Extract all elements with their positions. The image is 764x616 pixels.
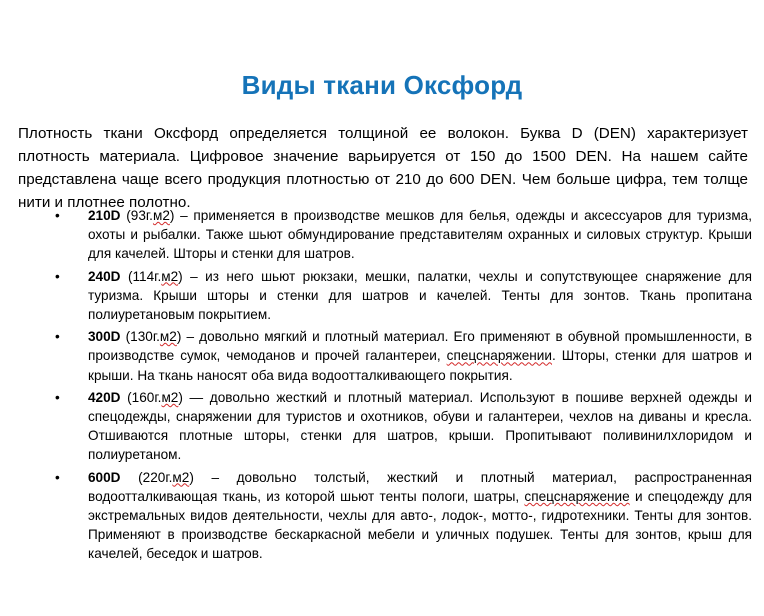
spellcheck-word: м2 [161,269,178,284]
item-description: – применяется в производстве мешков для … [88,208,752,261]
density-label: 300D [88,329,121,344]
item-description: – из него шьют рюкзаки, мешки, палатки, … [88,269,752,322]
weight-value: (220г.м2) [138,470,194,485]
weight-prefix: (130г. [126,329,160,344]
fabric-density-list: • 210D (93г.м2) – применяется в производ… [40,206,752,564]
spellcheck-word: м2 [161,390,178,405]
spellcheck-word: спецснаряжении [447,348,552,363]
density-label: 210D [88,208,121,223]
page-title: Виды ткани Оксфорд [0,71,764,101]
density-label: 240D [88,269,121,284]
weight-value: (130г.м2) [126,329,182,344]
intro-paragraph: Плотность ткани Оксфорд определяется тол… [18,122,748,214]
slide-canvas: Виды ткани Оксфорд Плотность ткани Оксфо… [0,0,764,616]
weight-prefix: (160г. [127,390,161,405]
weight-value: (114г.м2) [128,269,183,284]
spellcheck-word: м2 [160,329,177,344]
list-item: • 210D (93г.м2) – применяется в производ… [40,206,752,264]
spellcheck-word: спецснаряжение [524,489,629,504]
weight-value: (93г.м2) [126,208,174,223]
bullet-marker: • [55,327,67,346]
spellcheck-word: м2 [172,470,189,485]
spellcheck-word: м2 [153,208,170,223]
list-item: • 300D (130г.м2) – довольно мягкий и пло… [40,327,752,385]
weight-prefix: (220г. [138,470,172,485]
list-item: • 240D (114г.м2) – из него шьют рюкзаки,… [40,267,752,325]
bullet-marker: • [55,206,67,225]
weight-prefix: (93г. [126,208,153,223]
bullet-marker: • [55,267,67,286]
density-label: 600D [88,470,121,485]
list-item: • 600D (220г.м2) – довольно толстый, жес… [40,468,752,564]
weight-prefix: (114г. [128,269,161,284]
item-description: — довольно жесткий и плотный материал. И… [88,390,752,463]
density-label: 420D [88,390,121,405]
bullet-marker: • [55,468,67,487]
bullet-marker: • [55,388,67,407]
weight-value: (160г.м2) [127,390,183,405]
list-item: • 420D (160г.м2) — довольно жесткий и пл… [40,388,752,465]
